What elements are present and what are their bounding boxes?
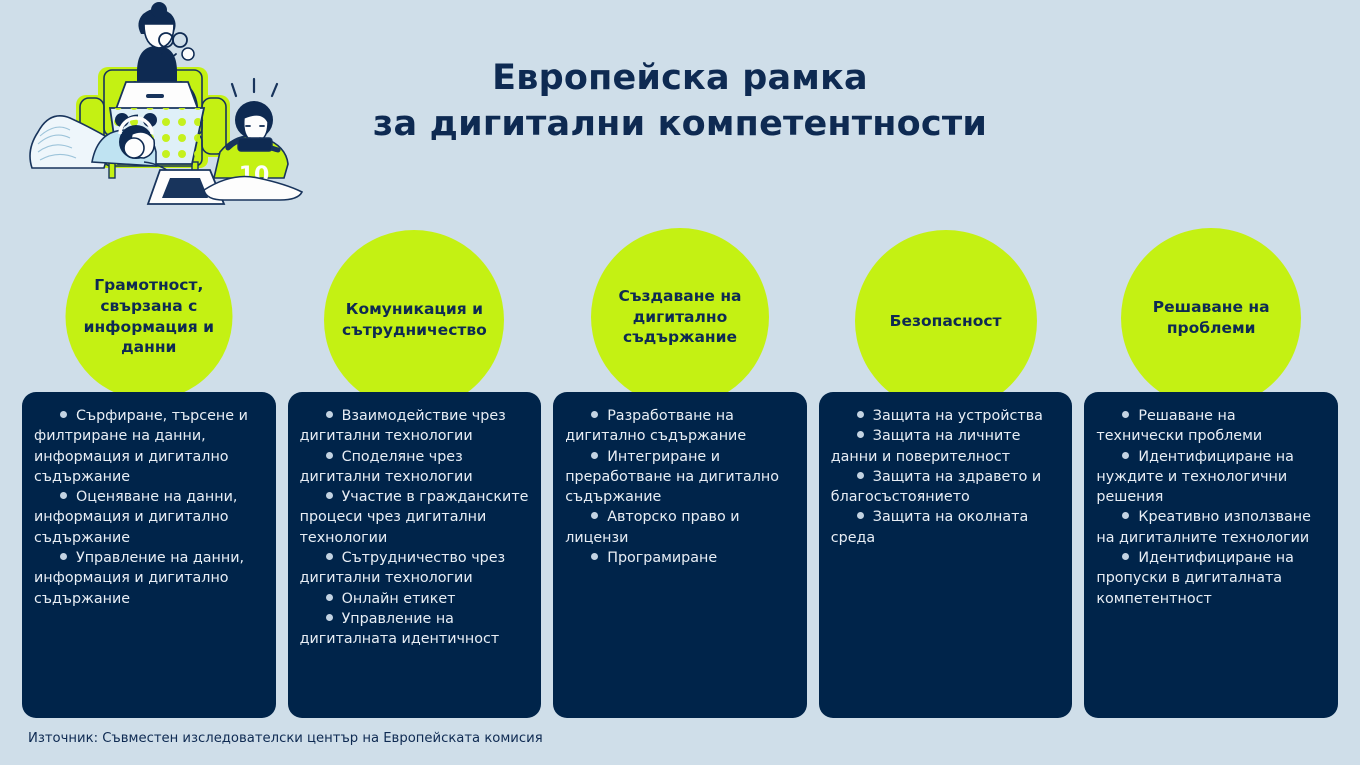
list-item: Сътрудничество чрез дигитални технологии xyxy=(300,548,530,589)
list-item: Авторско право и лицензи xyxy=(565,507,795,548)
competence-column-safety: Безопасност Защита на устройства Защита … xyxy=(819,228,1073,720)
bullet-dot-icon xyxy=(1122,512,1129,519)
bullet-dot-icon xyxy=(326,594,333,601)
list-item: Участие в гражданските процеси чрез диги… xyxy=(300,487,530,548)
bullet-dot-icon xyxy=(60,553,67,560)
bullet-dot-icon xyxy=(857,431,864,438)
bullet-dot-icon xyxy=(60,411,67,418)
list-item: Онлайн етикет xyxy=(300,589,530,609)
list-item: Защита на личните данни и поверителност xyxy=(831,426,1061,467)
family-with-devices-illustration: 10 xyxy=(14,2,324,207)
list-item: Интегриране и преработване на дигитално … xyxy=(565,447,795,508)
bubble-heading-information-and-data-literacy: Грамотност, свързана с информация и данн… xyxy=(65,233,232,400)
list-item: Управление на данни, информация и дигита… xyxy=(34,548,264,609)
list-item-text: Онлайн етикет xyxy=(342,591,456,607)
competence-list-digital-content-creation: Разработване на дигитално съдържание Инт… xyxy=(565,406,795,568)
competence-column-problem-solving: Решаване на проблеми Решаване на техниче… xyxy=(1084,228,1338,720)
bubble-heading-communication-and-collaboration: Комуникация и сътрудничество xyxy=(324,230,504,410)
list-item: Защита на околната среда xyxy=(831,507,1061,548)
competence-card-information-and-data-literacy: Сърфиране, търсене и филтриране на данни… xyxy=(22,392,276,718)
competence-areas-container: Грамотност, свързана с информация и данн… xyxy=(22,228,1338,720)
list-item: Управление на дигиталната идентичност xyxy=(300,609,530,650)
competence-list-communication-and-collaboration: Взаимодействие чрез дигитални технологии… xyxy=(300,406,530,650)
bullet-dot-icon xyxy=(857,512,864,519)
bullet-dot-icon xyxy=(326,492,333,499)
bullet-dot-icon xyxy=(326,452,333,459)
bullet-dot-icon xyxy=(857,472,864,479)
bubble-heading-safety: Безопасност xyxy=(855,230,1037,412)
competence-list-information-and-data-literacy: Сърфиране, търсене и филтриране на данни… xyxy=(34,406,264,609)
list-item: Споделяне чрез дигитални технологии xyxy=(300,447,530,488)
bullet-dot-icon xyxy=(1122,452,1129,459)
list-item: Програмиране xyxy=(565,548,795,568)
list-item-text: Участие в гражданските процеси чрез диги… xyxy=(300,489,529,546)
list-item: Идентифициране на нуждите и технологични… xyxy=(1096,447,1326,508)
competence-column-communication-and-collaboration: Комуникация и сътрудничество Взаимодейст… xyxy=(288,228,542,720)
bullet-dot-icon xyxy=(1122,411,1129,418)
bullet-dot-icon xyxy=(326,411,333,418)
list-item: Решаване на технически проблеми xyxy=(1096,406,1326,447)
bullet-dot-icon xyxy=(591,411,598,418)
bullet-dot-icon xyxy=(326,553,333,560)
competence-list-safety: Защита на устройства Защита на личните д… xyxy=(831,406,1061,548)
list-item: Оценяване на данни, информация и дигитал… xyxy=(34,487,264,548)
source-note: Източник: Съвместен изследователски цент… xyxy=(28,731,543,746)
list-item-text: Защита на устройства xyxy=(873,408,1043,424)
list-item: Идентифициране на пропуски в дигиталната… xyxy=(1096,548,1326,609)
list-item: Креативно използване на дигиталните техн… xyxy=(1096,507,1326,548)
page-title: Европейска рамка за дигитални компетентн… xyxy=(330,56,1030,147)
competence-card-communication-and-collaboration: Взаимодействие чрез дигитални технологии… xyxy=(288,392,542,718)
bubble-heading-problem-solving: Решаване на проблеми xyxy=(1121,228,1301,408)
list-item: Защита на здравето и благосъстоянието xyxy=(831,467,1061,508)
list-item-text: Програмиране xyxy=(607,550,717,566)
bullet-dot-icon xyxy=(591,512,598,519)
list-item: Защита на устройства xyxy=(831,406,1061,426)
title-line-1: Европейска рамка xyxy=(330,56,1030,102)
title-line-2: за дигитални компетентности xyxy=(330,102,1030,148)
competence-card-problem-solving: Решаване на технически проблеми Идентифи… xyxy=(1084,392,1338,718)
competence-column-information-and-data-literacy: Грамотност, свързана с информация и данн… xyxy=(22,228,276,720)
bubble-heading-digital-content-creation: Създаване на дигитално съдържание xyxy=(591,228,769,406)
list-item-text: Решаване на технически проблеми xyxy=(1096,408,1262,444)
bullet-dot-icon xyxy=(326,614,333,621)
bullet-dot-icon xyxy=(857,411,864,418)
bullet-dot-icon xyxy=(591,452,598,459)
competence-column-digital-content-creation: Създаване на дигитално съдържание Разраб… xyxy=(553,228,807,720)
list-item: Взаимодействие чрез дигитални технологии xyxy=(300,406,530,447)
mother-figure xyxy=(112,2,202,120)
competence-list-problem-solving: Решаване на технически проблеми Идентифи… xyxy=(1096,406,1326,609)
bullet-dot-icon xyxy=(60,492,67,499)
competence-card-digital-content-creation: Разработване на дигитално съдържание Инт… xyxy=(553,392,807,718)
competence-card-safety: Защита на устройства Защита на личните д… xyxy=(819,392,1073,718)
bullet-dot-icon xyxy=(1122,553,1129,560)
bullet-dot-icon xyxy=(591,553,598,560)
list-item: Разработване на дигитално съдържание xyxy=(565,406,795,447)
list-item-text: Сърфиране, търсене и филтриране на данни… xyxy=(34,408,248,485)
list-item: Сърфиране, търсене и филтриране на данни… xyxy=(34,406,264,487)
